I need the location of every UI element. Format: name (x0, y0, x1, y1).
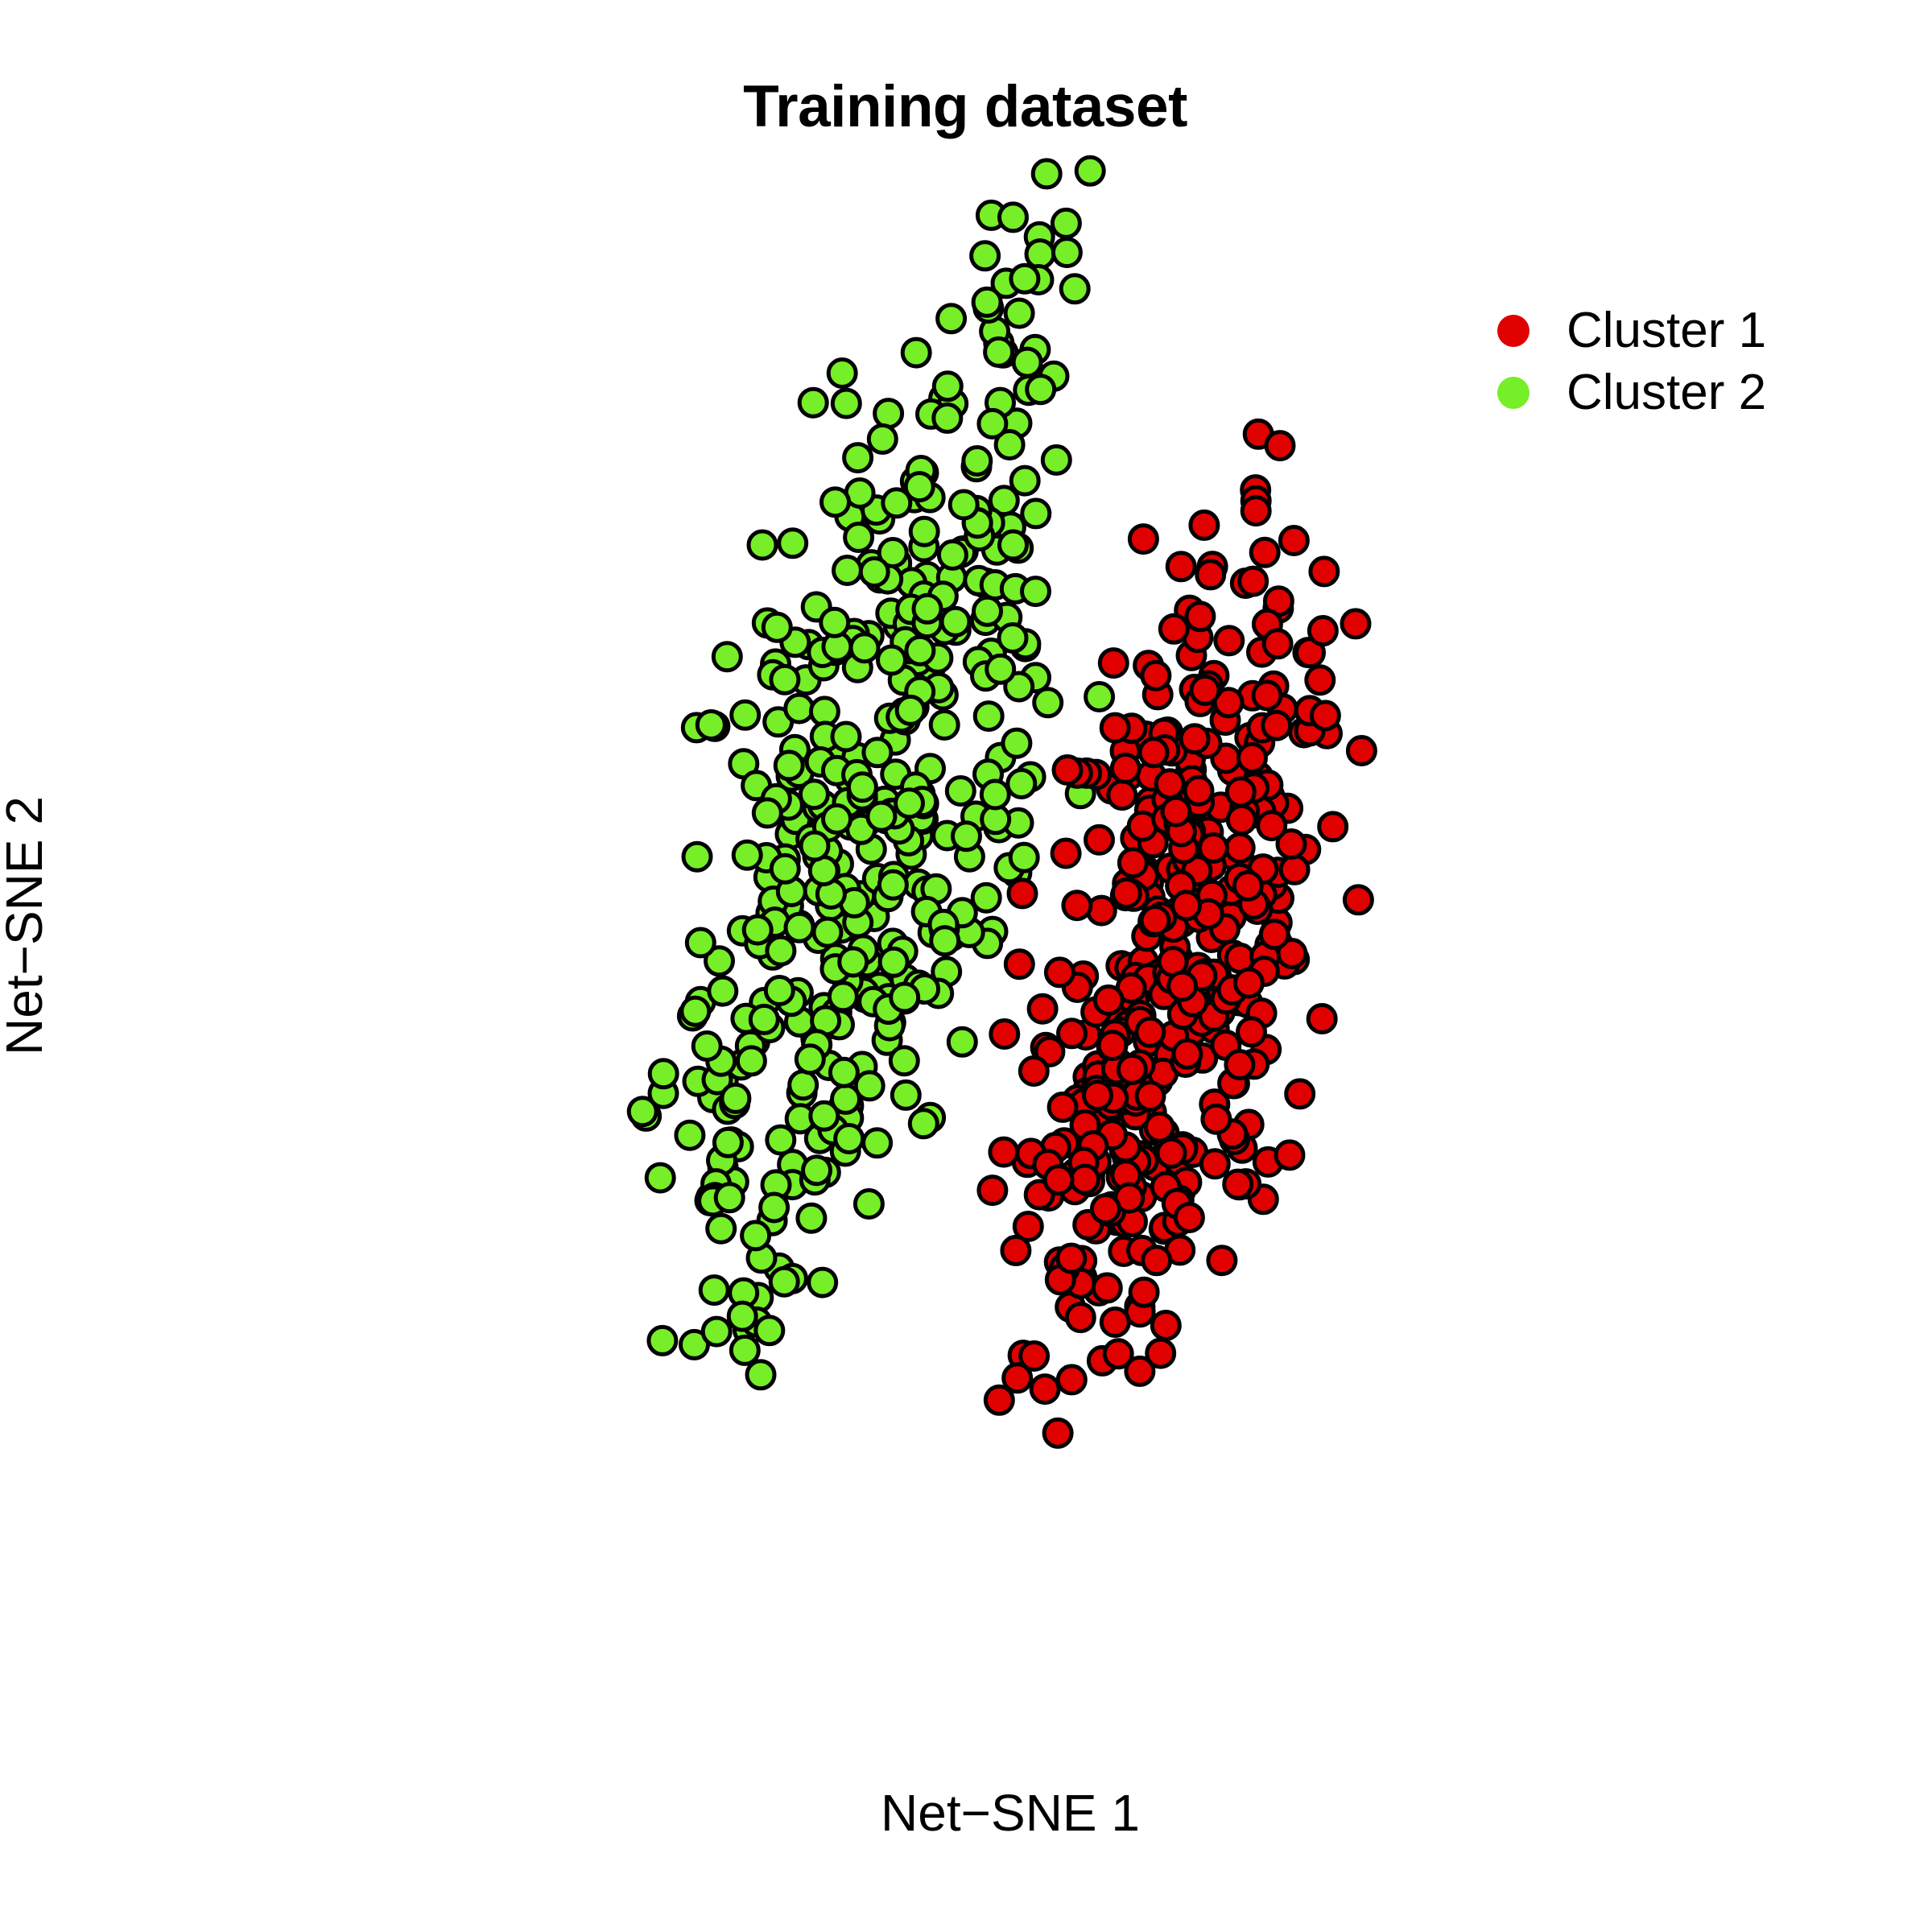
scatter-point (1242, 497, 1269, 525)
scatter-point (1099, 1032, 1126, 1059)
scatter-point (713, 643, 741, 671)
scatter-point (1027, 376, 1055, 403)
legend-marker-cluster-1-icon (1497, 315, 1529, 347)
scatter-point (1258, 812, 1286, 840)
scatter-point (1226, 1051, 1253, 1079)
scatter-point (722, 1084, 749, 1112)
scatter-point (767, 937, 795, 964)
scatter-point (1181, 725, 1208, 753)
scatter-point (1130, 1278, 1158, 1306)
scatter-point (1005, 299, 1033, 327)
scatter-point (1113, 880, 1140, 907)
scatter-point (1010, 844, 1038, 871)
scatter-point (1092, 1195, 1119, 1223)
scatter-point (714, 1129, 741, 1156)
scatter-point (646, 1164, 674, 1191)
scatter-point (828, 360, 856, 387)
scatter-point (979, 410, 1006, 437)
scatter-point (1020, 1058, 1047, 1085)
scatter-point (770, 1268, 798, 1295)
scatter-point (1266, 432, 1294, 460)
scatter-point (1156, 770, 1183, 798)
scatter-point (1033, 160, 1060, 188)
scatter-point (1174, 1040, 1201, 1067)
scatter-point (747, 1361, 774, 1389)
scatter-point (879, 871, 906, 898)
scatter-point (1046, 959, 1073, 986)
scatter-point (1137, 1083, 1164, 1110)
scatter-point (821, 609, 848, 636)
scatter-point (829, 983, 857, 1010)
scatter-point (1009, 880, 1036, 907)
scatter-point (1058, 1366, 1085, 1393)
scatter-point (1022, 500, 1050, 527)
scatter-point (974, 597, 1001, 625)
scatter-point (761, 1194, 788, 1221)
scatter-point (1264, 630, 1291, 658)
scatter-point (914, 595, 941, 622)
scatter-point (1191, 676, 1219, 704)
scatter-point (975, 703, 1002, 730)
scatter-point (1307, 667, 1334, 694)
scatter-point (1308, 1005, 1335, 1033)
scatter-point (822, 489, 849, 516)
scatter-point (1239, 744, 1266, 771)
scatter-point (830, 1059, 857, 1086)
scatter-point (934, 373, 961, 400)
scatter-point (1067, 1304, 1094, 1331)
scatter-point (1342, 610, 1369, 638)
scatter-point (708, 1215, 735, 1242)
scatter-point (801, 832, 828, 860)
scatter-point (1224, 1170, 1252, 1198)
scatter-point (991, 1021, 1018, 1048)
scatter-point (1344, 886, 1372, 914)
scatter-point (1022, 578, 1050, 605)
scatter-point (676, 1121, 704, 1149)
scatter-point (1185, 777, 1212, 804)
scatter-point (950, 491, 977, 518)
scatter-point (1044, 1419, 1071, 1447)
scatter-point (800, 781, 828, 808)
scatter-point (1238, 1018, 1265, 1046)
scatter-point (845, 524, 873, 551)
scatter-point (1026, 241, 1054, 268)
scatter-point (1311, 558, 1338, 585)
scatter-point (1052, 209, 1080, 237)
scatter-point (1263, 712, 1290, 739)
scatter-point (687, 929, 714, 956)
scatter-point (1054, 757, 1081, 784)
scatter-point (892, 1081, 919, 1108)
scatter-point (844, 444, 872, 472)
scatter-point (709, 977, 737, 1005)
scatter-point (840, 948, 867, 976)
scatter-point (1126, 1357, 1154, 1385)
scatter-point (1000, 531, 1027, 559)
scatter-point (972, 242, 999, 270)
scatter-point (700, 1277, 728, 1304)
scatter-point (1276, 1141, 1303, 1169)
scatter-point (753, 799, 781, 827)
scatter-point (786, 914, 813, 941)
scatter-point (733, 841, 761, 869)
scatter-point (896, 790, 923, 817)
scatter-point (744, 916, 771, 943)
scatter-point (1002, 1236, 1030, 1264)
scatter-point (1162, 798, 1190, 825)
scatter-point (832, 723, 860, 750)
scatter-point (942, 608, 969, 635)
scatter-point (910, 518, 938, 545)
scatter-point (931, 927, 959, 955)
scatter-point (1169, 972, 1196, 1000)
scatter-point (809, 1269, 836, 1296)
scatter-point (683, 843, 711, 870)
scatter-point (1140, 739, 1167, 766)
scatter-point (1240, 568, 1267, 595)
scatter-point (1101, 1309, 1129, 1336)
scatter-point (934, 404, 961, 431)
scatter-point (798, 1204, 825, 1232)
scatter-point (1049, 1093, 1076, 1121)
scatter-point (1319, 813, 1347, 840)
scatter-point (1216, 627, 1243, 654)
scatter-point (1095, 986, 1122, 1013)
scatter-point (1029, 995, 1056, 1022)
scatter-point (1146, 1113, 1173, 1141)
scatter-point (981, 781, 1009, 808)
scatter-point (1251, 539, 1278, 566)
scatter-point (1129, 526, 1157, 553)
scatter-point (1234, 872, 1261, 899)
scatter-point (1141, 907, 1169, 935)
scatter-point (716, 1184, 743, 1212)
scatter-point (834, 557, 861, 584)
scatter-point (897, 696, 924, 724)
scatter-point (891, 984, 919, 1011)
scatter-point-canvas (0, 0, 1932, 1932)
scatter-point (1013, 349, 1041, 376)
scatter-point (682, 997, 709, 1025)
scatter-point (864, 1129, 891, 1157)
scatter-point (1084, 1082, 1112, 1109)
scatter-point (1071, 1166, 1099, 1193)
scatter-point (1045, 1166, 1072, 1194)
scatter-point (832, 390, 860, 417)
scatter-point (1108, 782, 1136, 809)
scatter-point (1063, 892, 1091, 919)
scatter-point (742, 1222, 770, 1249)
scatter-point (1253, 682, 1281, 709)
scatter-point (868, 803, 895, 830)
scatter-point (931, 712, 958, 739)
scatter-point (1191, 511, 1218, 539)
scatter-point (1280, 527, 1307, 555)
scatter-point (732, 701, 759, 729)
scatter-point (1031, 1376, 1059, 1403)
scatter-point (1011, 265, 1038, 292)
scatter-point (1086, 683, 1113, 711)
scatter-point (1143, 1247, 1170, 1274)
scatter-point (649, 1327, 676, 1354)
scatter-point (878, 646, 906, 674)
scatter-point (775, 752, 803, 779)
scatter-point (1142, 662, 1170, 689)
scatter-point (1011, 467, 1038, 494)
scatter-point (729, 1302, 756, 1330)
scatter-point (953, 823, 980, 850)
scatter-point (1119, 849, 1146, 877)
scatter-point (939, 541, 966, 568)
scatter-point (1100, 650, 1127, 677)
scatter-point (880, 948, 907, 976)
legend-label-cluster-2: Cluster 2 (1567, 368, 1766, 418)
scatter-point (1187, 603, 1214, 630)
scatter-point (779, 530, 807, 557)
scatter-point (1112, 754, 1139, 782)
scatter-point (910, 1110, 937, 1137)
scatter-point (1227, 778, 1254, 806)
legend-item-cluster-2[interactable]: Cluster 2 (1493, 361, 1912, 423)
scatter-point (1201, 1150, 1228, 1178)
scatter-point (737, 1047, 765, 1075)
scatter-point (938, 305, 965, 332)
scatter-point (1281, 856, 1308, 883)
scatter-point (1058, 1245, 1085, 1272)
scatter-point (1118, 1055, 1146, 1083)
scatter-plot-figure: Training dataset Net−SNE 1 Net−SNE 2 Clu… (0, 0, 1932, 1932)
scatter-point (851, 634, 878, 662)
scatter-point (790, 1071, 817, 1099)
scatter-point (1003, 729, 1030, 757)
scatter-point (756, 1317, 783, 1344)
scatter-point (1052, 840, 1080, 867)
scatter-point (1101, 714, 1129, 741)
scatter-point (1000, 204, 1027, 231)
scatter-point (861, 559, 888, 586)
scatter-point (799, 389, 827, 416)
scatter-point (869, 425, 896, 452)
scatter-point (771, 855, 799, 882)
scatter-point (848, 774, 876, 801)
scatter-point (786, 695, 813, 722)
scatter-point (1208, 1247, 1236, 1274)
scatter-point (1235, 969, 1262, 997)
scatter-point (767, 1126, 795, 1154)
scatter-point (1309, 617, 1336, 645)
scatter-point (750, 1005, 778, 1033)
scatter-point (1152, 1312, 1179, 1340)
scatter-point (855, 1191, 882, 1218)
scatter-point (985, 338, 1013, 365)
scatter-point (906, 473, 933, 501)
scatter-point (875, 400, 902, 427)
scatter-point (1197, 561, 1224, 588)
points-cluster-1 (979, 420, 1376, 1447)
y-axis-label: Net−SNE 2 (0, 604, 50, 1248)
scatter-point (902, 339, 930, 366)
scatter-point (985, 1386, 1013, 1414)
scatter-point (1053, 239, 1080, 266)
legend-item-cluster-1[interactable]: Cluster 1 (1493, 299, 1912, 361)
scatter-point (979, 1177, 1006, 1204)
scatter-point (1167, 553, 1195, 580)
scatter-point (1093, 1274, 1121, 1302)
scatter-point (1203, 1105, 1230, 1133)
scatter-point (1061, 275, 1088, 303)
scatter-point (1042, 446, 1070, 473)
scatter-point (771, 666, 799, 693)
scatter-point (1158, 1139, 1185, 1166)
scatter-point (749, 531, 776, 559)
scatter-point (703, 1318, 730, 1345)
scatter-point (964, 448, 991, 475)
scatter-point (947, 778, 974, 805)
scatter-point (890, 1047, 918, 1075)
scatter-point (763, 613, 791, 641)
legend: Cluster 1 Cluster 2 (1493, 299, 1912, 423)
scatter-point (1228, 806, 1255, 833)
scatter-point (1286, 1080, 1314, 1108)
scatter-point (948, 1028, 976, 1055)
scatter-point (824, 805, 851, 832)
x-axis-label: Net−SNE 1 (0, 1787, 1932, 1839)
scatter-point (1160, 615, 1187, 642)
legend-marker-cluster-2-icon (1497, 377, 1529, 409)
scatter-point (906, 637, 934, 664)
scatter-point (836, 1125, 863, 1153)
scatter-point (987, 655, 1014, 683)
scatter-point (1008, 770, 1035, 798)
scatter-point (973, 288, 1001, 316)
scatter-point (629, 1098, 656, 1125)
scatter-point (1311, 702, 1339, 729)
scatter-point (864, 739, 891, 766)
scatter-point (1348, 737, 1375, 765)
scatter-point (1005, 951, 1033, 978)
scatter-point (1137, 1018, 1164, 1046)
legend-label-cluster-1: Cluster 1 (1567, 306, 1766, 356)
scatter-point (1034, 689, 1062, 716)
scatter-point (811, 1102, 838, 1129)
scatter-point (1175, 1204, 1203, 1232)
scatter-point (766, 977, 793, 1005)
scatter-point (697, 712, 724, 739)
scatter-point (650, 1060, 677, 1088)
scatter-point (1086, 826, 1113, 853)
scatter-point (803, 1157, 831, 1184)
scatter-point (1226, 834, 1253, 861)
scatter-point (814, 919, 841, 946)
scatter-point (693, 1033, 720, 1060)
scatter-point (1261, 921, 1288, 948)
scatter-point (990, 1138, 1018, 1166)
scatter-point (731, 1336, 758, 1364)
scatter-point (796, 1046, 824, 1073)
scatter-point (1076, 157, 1104, 184)
scatter-point (1199, 834, 1227, 861)
scatter-point (999, 625, 1026, 652)
